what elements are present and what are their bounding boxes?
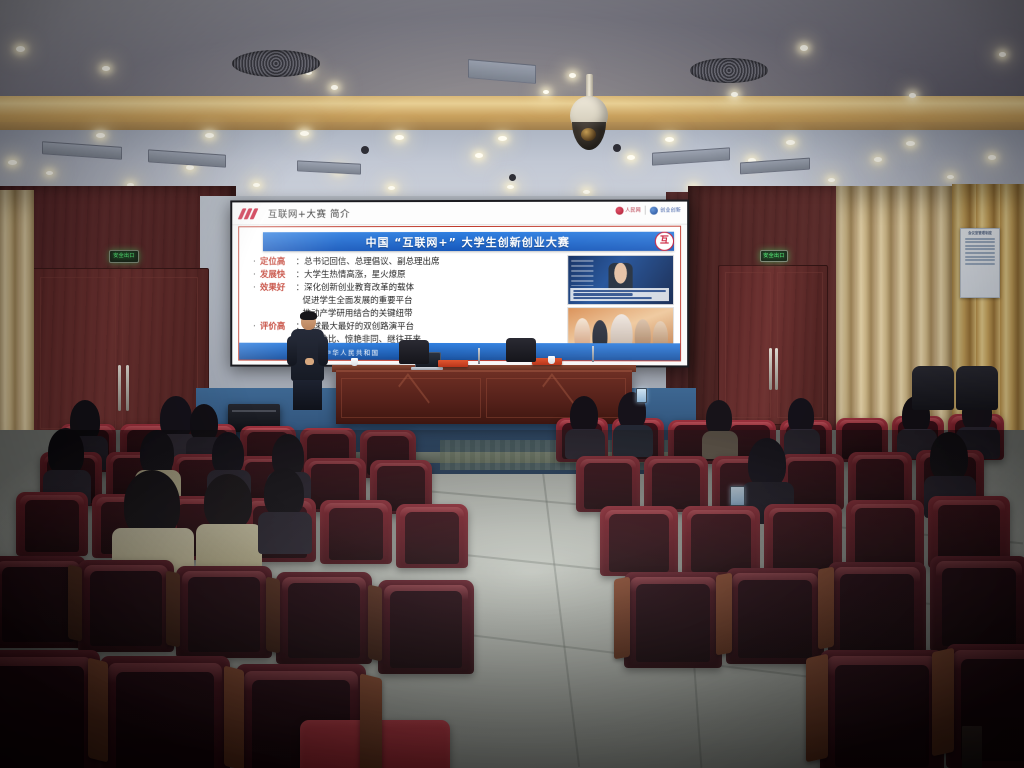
brand-divider [645,206,646,215]
downlight-icon [569,73,576,78]
presenter-legs [293,380,322,410]
bullet-dot: · [253,283,260,294]
table-microphone [592,346,594,362]
brand-logo-peoples-daily: 人民网 [615,206,641,214]
downlight-icon [388,186,395,190]
exit-sign-label: 安全出口 [761,251,787,261]
door-handle[interactable] [126,365,129,411]
downlight-icon [507,185,514,189]
brand-logo-secondary: 创业创新 [650,206,681,214]
bullet-text: 深化创新创业教育改革的载体 [304,283,414,294]
name-plate [532,358,562,365]
wall-notice-board: 会议室管理制度 [960,228,1000,298]
downlight-icon [665,137,674,142]
table-microphone [478,348,480,364]
downlight-icon [186,165,194,170]
name-plate [438,360,468,367]
badge-char: 互 [660,237,669,246]
downlight-icon [8,160,17,165]
downlight-icon [331,85,338,90]
notice-title: 会议室管理制度 [963,232,997,236]
bullet-continuation: 推动产学研用结合的关键纽带 [253,309,492,321]
bullet-text: 大学生热情高涨，星火燎原 [304,270,406,281]
downlight-icon [988,155,996,160]
ceiling-air-vent [690,58,768,83]
downlight-icon [800,45,808,51]
downlight-icon [583,190,590,194]
downlight-icon [102,66,110,71]
bullet-dot: · [253,322,260,333]
spare-chair[interactable] [956,366,998,410]
right-exit-sign: 安全出口 [760,250,788,262]
slide-brand-logos: 人民网 创业创新 [615,206,681,215]
ceiling-speaker [361,146,369,154]
bullet-key: 定位高 [260,257,296,268]
bullet-dot: · [253,257,260,268]
presenter-hand [305,358,314,365]
downlight-icon [46,171,53,175]
ceiling-speaker [613,144,621,152]
door-handle[interactable] [769,348,772,390]
downlight-icon [543,90,549,94]
smartphone[interactable] [636,388,647,403]
bullet-key: 效果好 [260,283,296,294]
bullet-dot: · [253,270,260,281]
downlight-icon [828,178,835,182]
news-ticker [570,288,669,301]
slide-header-bar: 互联网+大赛 简介 人民网 创业创新 [232,202,687,226]
downlight-icon [999,52,1006,57]
bullet-row: · 评价高 ： 全球最大最好的双创路演平台 [253,322,492,334]
right-exit-door[interactable] [718,265,828,425]
brand-label: 人民网 [625,207,641,214]
camera-lens-icon [581,128,596,141]
door-handle[interactable] [118,365,121,411]
downlight-icon [947,175,954,179]
laptop-base [411,367,443,370]
downlight-icon [909,93,916,98]
brand-icon [650,206,658,214]
ceiling-air-vent [232,50,320,77]
podium-chair[interactable] [399,340,429,364]
left-window-curtain [0,190,34,440]
bullet-text: 总书记回信、总理倡议、副总理出席 [304,257,439,269]
downlight-icon [300,131,309,136]
slide-logo-icon [240,208,260,218]
bullet-separator: ： [296,270,304,281]
slide-photo-news-broadcast [567,255,674,305]
bullet-row: · 发展快 ： 大学生热情高涨，星火燎原 [253,270,492,282]
water-cup [351,358,358,366]
slide-title-banner: 中国 “互联网+” 大学生创新创业大赛 [263,232,674,251]
downlight-icon [906,141,915,146]
news-sidebar-graphic [571,260,593,286]
downlight-icon [395,135,404,140]
downlight-icon [731,92,738,97]
slide-header-title: 互联网+大赛 简介 [268,206,350,220]
bullet-separator: ： [296,283,304,294]
slide-footer-text: 中华人民共和国 [324,346,379,356]
bullet-separator: ： [296,257,304,268]
bullet-row: · 效果好 ： 深化创新创业教育改革的载体 [253,283,492,295]
door-handle[interactable] [775,348,778,390]
presenter-arm [287,336,297,366]
downlight-icon [874,157,882,162]
downlight-icon [498,136,507,141]
lecture-hall-photo: 安全出口 安全出口 会议室管理制度 互联网+大赛 简介 [0,0,1024,768]
floor-lighting-gradient [0,430,1024,768]
downlight-icon [475,153,483,158]
left-exit-sign: 安全出口 [109,250,139,263]
ceiling-speaker [509,174,516,181]
podium-chair[interactable] [506,338,536,362]
competition-logo-badge: 互 [655,232,674,251]
downlight-icon [786,140,795,145]
slide-title-text: 中国 “互联网+” 大学生创新创业大赛 [366,233,570,249]
downlight-icon [627,155,635,160]
slide-bullet-list: · 定位高 ： 总书记回信、总理倡议、副总理出席 · 发展快 ： 大学生热情高涨… [253,257,492,348]
water-cup [548,356,555,364]
downlight-icon [16,46,25,52]
bullet-key: 评价高 [260,322,296,333]
bullet-key: 发展快 [260,270,296,281]
ceiling-upper-section [0,0,1024,104]
exit-sign-label: 安全出口 [110,251,138,261]
downlight-icon [205,133,214,138]
spare-chair[interactable] [912,366,954,410]
bullet-row: · 定位高 ： 总书记回信、总理倡议、副总理出席 [253,257,492,269]
brand-icon [615,206,623,214]
presenter-hair [300,311,317,320]
downlight-icon [253,183,260,187]
brand-label: 创业创新 [660,207,681,214]
downlight-icon [96,133,105,138]
bullet-continuation: 促进学生全面发展的重要平台 [253,296,492,308]
presenter-arm [318,336,328,366]
